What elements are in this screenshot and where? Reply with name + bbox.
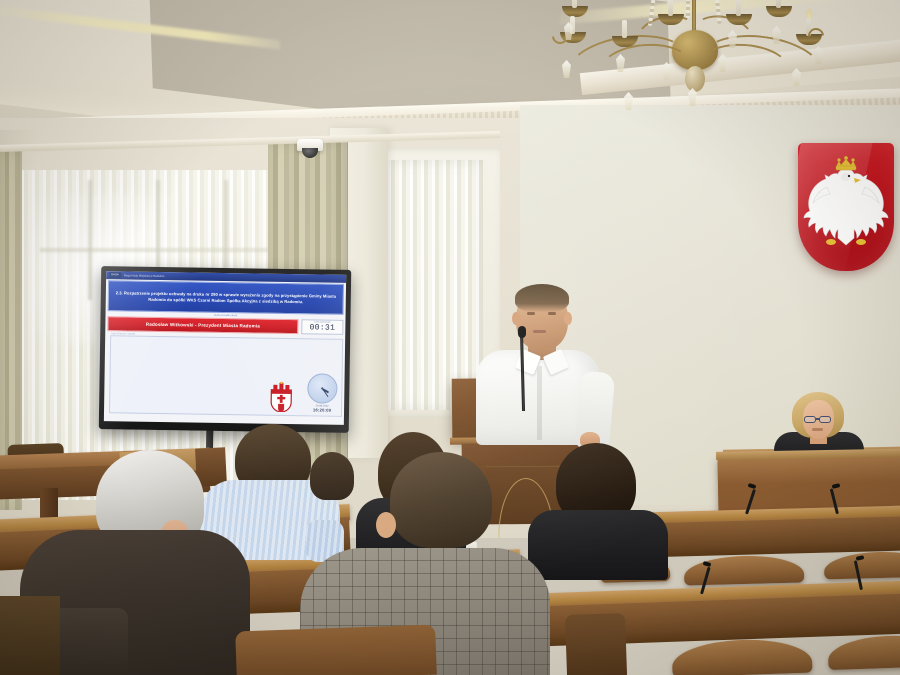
sheer-curtain-right	[388, 160, 483, 410]
council-chair-back	[565, 613, 627, 675]
speaker-hair	[515, 284, 569, 312]
chandelier-candle	[736, 0, 741, 16]
chandelier-candle	[668, 0, 673, 16]
window-mullion	[40, 248, 300, 252]
speaker-ear	[564, 312, 572, 325]
radom-crest-icon	[269, 382, 293, 412]
speaker-banner: Radosław Witkowski - Prezydent Miasta Ra…	[107, 316, 298, 334]
audience-ear	[376, 512, 396, 538]
speaker-shirt-placket	[537, 366, 542, 440]
speaker-eye	[548, 312, 556, 315]
crystal-pendant	[624, 92, 633, 110]
speech-timer: Czas wypowiedzi 00:31	[301, 319, 343, 335]
council-chair-back	[671, 638, 812, 675]
display-screen[interactable]: RADA Sesja Rady Miejskiej w Radomiu 2.3.…	[104, 271, 346, 425]
eyeglasses-bridge	[816, 418, 819, 420]
window-mullion	[88, 180, 92, 300]
speaker-list-panel[interactable]: 20.08.2022 16:20:09	[109, 335, 343, 417]
timer-value: 00:31	[310, 324, 336, 333]
display-topbar-badge: RADA	[109, 272, 121, 278]
chandelier-candle	[776, 0, 781, 8]
clock-face-icon	[307, 373, 337, 403]
display-footer: 20.08.2022 16:20:09	[269, 373, 338, 413]
official-mouth	[812, 428, 823, 431]
audience-hair	[310, 452, 354, 500]
eyeglasses-icon	[804, 416, 816, 423]
council-chair-back	[684, 554, 805, 585]
crystal-strand	[686, 0, 690, 18]
polish-coat-of-arms	[798, 143, 894, 271]
display-topbar-title: Sesja Rady Miejskiej w Radomiu	[124, 273, 165, 278]
chandelier-candle	[622, 20, 627, 38]
audience-body	[528, 510, 668, 580]
council-chair-back	[0, 596, 60, 675]
presidium-front-panel	[718, 453, 900, 513]
display-clock: 20.08.2022 16:20:09	[307, 373, 338, 412]
eyeglasses-icon	[819, 416, 831, 423]
podium-microphone	[518, 326, 526, 338]
chandelier-flame-icon	[806, 9, 812, 19]
chandelier	[540, 0, 860, 127]
speaker-mouth	[533, 330, 546, 333]
agenda-banner: 2.3. Rozpatrzenie projektu uchwały na dr…	[108, 280, 344, 315]
speaker-ear	[512, 312, 520, 325]
council-chair-back	[827, 634, 900, 670]
council-chair-back	[235, 625, 437, 675]
audience-hair	[390, 452, 492, 548]
eagle-icon	[798, 143, 894, 271]
agenda-text: 2.3. Rozpatrzenie projektu uchwały na dr…	[115, 290, 337, 305]
speaker-eye	[527, 312, 535, 315]
speaker-row: Radosław Witkowski - Prezydent Miasta Ra…	[107, 316, 343, 335]
speaker-name: Radosław Witkowski - Prezydent Miasta Ra…	[146, 322, 260, 329]
wall-display: RADA Sesja Rady Miejskiej w Radomiu 2.3.…	[99, 266, 352, 433]
clock-time: 16:20:09	[313, 407, 331, 412]
council-chamber-photo: RADA Sesja Rady Miejskiej w Radomiu 2.3.…	[0, 0, 900, 675]
chandelier-candle	[572, 0, 577, 8]
